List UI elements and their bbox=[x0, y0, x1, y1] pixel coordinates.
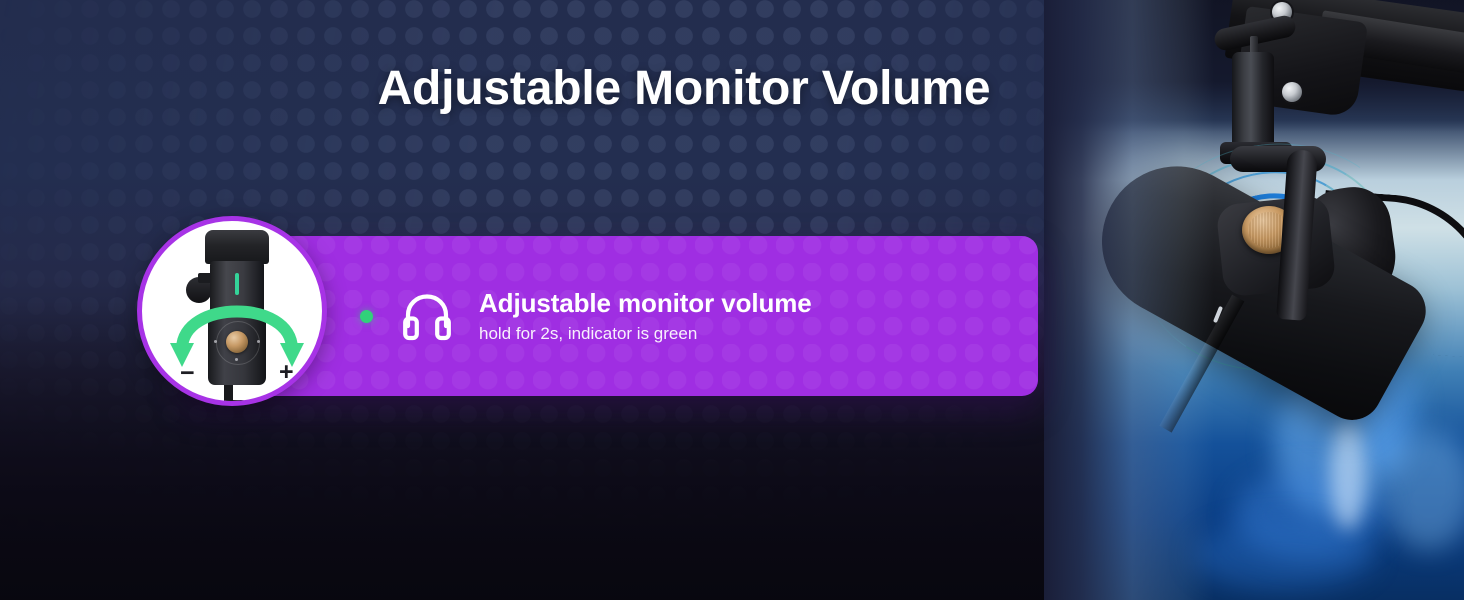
green-status-dot bbox=[360, 310, 373, 323]
volume-decrease-label: − bbox=[180, 361, 195, 386]
page-title: Adjustable Monitor Volume bbox=[0, 58, 1464, 120]
bokeh-blob bbox=[1194, 520, 1374, 590]
bokeh-blob bbox=[1330, 420, 1366, 530]
bokeh-blob bbox=[1384, 430, 1464, 550]
mic-volume-knob-illustration: − + bbox=[137, 216, 327, 406]
rotation-arrow-icon bbox=[142, 221, 327, 406]
feature-title: Adjustable monitor volume bbox=[479, 287, 812, 319]
headphones-icon bbox=[399, 288, 455, 344]
volume-increase-label: + bbox=[279, 360, 294, 385]
feature-subtitle: hold for 2s, indicator is green bbox=[479, 322, 812, 346]
product-feature-banner: Adjustable Monitor Volume Adjustable mon… bbox=[0, 0, 1464, 600]
